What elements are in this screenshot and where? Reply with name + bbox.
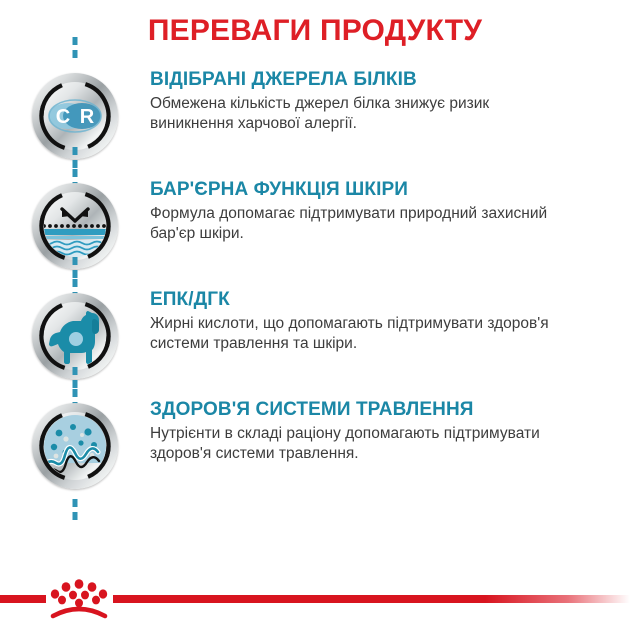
- benefit-heading: ЗДОРОВ'Я СИСТЕМИ ТРАВЛЕННЯ: [150, 399, 620, 421]
- benefit-text-column: ЕПК/ДГК Жирні кислоти, що допомагають пі…: [150, 281, 630, 355]
- benefit-text-column: ЗДОРОВ'Я СИСТЕМИ ТРАВЛЕННЯ Нутрієнти в с…: [150, 391, 630, 465]
- benefit-heading: ВІДІБРАНІ ДЖЕРЕЛА БІЛКІВ: [150, 69, 620, 91]
- svg-text:C: C: [56, 106, 70, 128]
- benefit-item-epa-dha: ЕПК/ДГК Жирні кислоти, що допомагають пі…: [0, 281, 630, 391]
- benefit-body: Обмежена кількість джерел білка знижує р…: [150, 94, 550, 135]
- svg-text:R: R: [80, 106, 95, 128]
- benefit-heading: ЕПК/ДГК: [150, 289, 620, 311]
- benefit-text-column: БАР'ЄРНА ФУНКЦІЯ ШКІРИ Формула допомагає…: [150, 171, 630, 245]
- footer-rule-right: [113, 595, 630, 603]
- connector-line-top: [73, 257, 78, 283]
- benefit-body: Формула допомагає підтримувати природний…: [150, 204, 550, 245]
- benefits-list: C R ВІДІБРАНІ ДЖЕРЕЛА БІЛКІВ Обмежена кі…: [0, 61, 630, 501]
- digestive-health-icon: [32, 403, 118, 489]
- connector-line-top: [73, 367, 78, 393]
- benefit-body: Жирні кислоти, що допомагають підтримува…: [150, 314, 550, 355]
- benefit-item-selected-protein: C R ВІДІБРАНІ ДЖЕРЕЛА БІЛКІВ Обмежена кі…: [0, 61, 630, 171]
- connector-line-top: [73, 37, 78, 63]
- benefit-heading: БАР'ЄРНА ФУНКЦІЯ ШКІРИ: [150, 179, 620, 201]
- benefit-item-digestive-health: ЗДОРОВ'Я СИСТЕМИ ТРАВЛЕННЯ Нутрієнти в с…: [0, 391, 630, 501]
- connector-line-bottom: [73, 499, 78, 525]
- benefit-text-column: ВІДІБРАНІ ДЖЕРЕЛА БІЛКІВ Обмежена кількі…: [150, 61, 630, 135]
- footer-rule-left: [0, 595, 46, 603]
- icon-column: [0, 391, 150, 501]
- benefit-body: Нутрієнти в складі раціону допомагають п…: [150, 424, 550, 465]
- page-title: ПЕРЕВАГИ ПРОДУКТУ: [0, 0, 630, 47]
- connector-line-top: [73, 147, 78, 173]
- benefit-item-skin-barrier: БАР'ЄРНА ФУНКЦІЯ ШКІРИ Формула допомагає…: [0, 171, 630, 281]
- footer: [0, 562, 630, 630]
- royal-canin-crown-logo: [47, 576, 111, 620]
